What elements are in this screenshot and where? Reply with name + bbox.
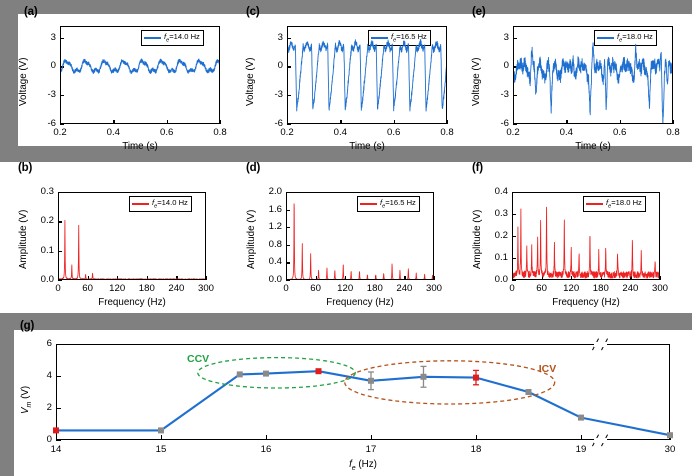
data-point-marker (420, 374, 426, 380)
figure-root: (a) (c) (e) (b) (d) (f) (g) -6-3030.20.4… (0, 0, 692, 476)
y-tick-label: 6 (28, 338, 52, 349)
annotation-label-ICV: ICV (539, 363, 557, 375)
axis-break-mask (594, 342, 607, 347)
data-point-marker (53, 427, 59, 433)
data-point-marker (473, 375, 479, 381)
data-point-marker (578, 415, 584, 421)
y-tick-label: 4 (28, 370, 52, 381)
g-y-axis-title: Vm (V) (20, 386, 33, 414)
annotation-ellipse-ICV (345, 361, 555, 404)
annotation-label-CCV: CCV (187, 353, 209, 365)
data-point-marker (158, 427, 164, 433)
data-point-marker (315, 368, 321, 374)
data-point-marker (368, 378, 374, 384)
g-series-layer (56, 344, 670, 454)
g-x-axis-title: fe (Hz) (323, 459, 403, 472)
data-point-marker (237, 371, 243, 377)
data-point-marker (263, 371, 269, 377)
data-point-marker (525, 389, 531, 395)
data-point-marker (667, 432, 673, 438)
axis-break-mask (594, 438, 607, 443)
chart-g-bifurcation: 024614151617181930fe (Hz)Vm (V)CCVICV (0, 0, 692, 476)
